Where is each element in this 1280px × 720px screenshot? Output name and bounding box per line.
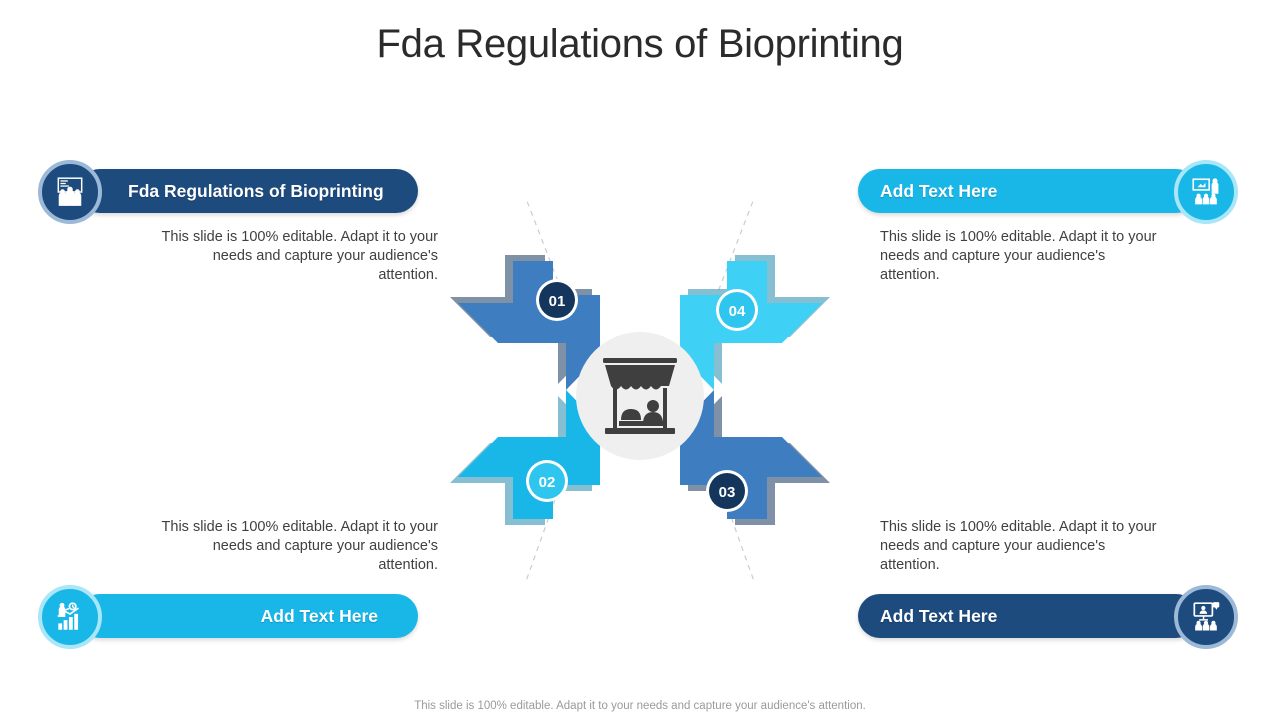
pill-row-bottom-right: Add Text Here (858, 585, 1278, 647)
icon-badge-bottom-left[interactable] (38, 585, 102, 649)
corner-block-bottom-right: This slide is 100% editable. Adapt it to… (858, 512, 1278, 647)
pill-label-top-right: Add Text Here (858, 181, 997, 202)
step-badge-03[interactable]: 03 (706, 470, 748, 512)
step-badge-04-label: 04 (729, 303, 746, 320)
arrow-step-01[interactable] (450, 255, 600, 390)
icon-badge-top-left[interactable] (38, 160, 102, 224)
step-badge-01-label: 01 (549, 293, 566, 310)
corner-block-bottom-left: This slide is 100% editable. Adapt it to… (38, 512, 458, 647)
step-badge-01[interactable]: 01 (536, 279, 578, 321)
icon-badge-top-right[interactable] (1174, 160, 1238, 224)
step-badge-04[interactable]: 04 (716, 289, 758, 331)
corner-description-bottom-left: This slide is 100% editable. Adapt it to… (38, 512, 458, 585)
arrow-step-04[interactable] (680, 255, 830, 390)
center-circle (576, 332, 704, 460)
label-pill-bottom-right[interactable]: Add Text Here (858, 594, 1198, 638)
people-presentation-icon (53, 175, 87, 209)
arrow-convergence-diagram: 01 04 02 03 (440, 200, 840, 580)
growth-chart-presenter-icon (53, 600, 87, 634)
corner-description-bottom-right: This slide is 100% editable. Adapt it to… (858, 512, 1278, 585)
pill-label-bottom-left: Add Text Here (78, 606, 418, 627)
presenter-audience-icon (1189, 175, 1223, 209)
pill-label-bottom-right: Add Text Here (858, 606, 997, 627)
label-pill-bottom-left[interactable]: Add Text Here (78, 594, 418, 638)
corner-description-top-left: This slide is 100% editable. Adapt it to… (38, 222, 458, 285)
step-badge-02-label: 02 (539, 474, 556, 491)
pill-label-top-left: Fda Regulations of Bioprinting (78, 181, 384, 202)
arrow-step-03[interactable] (680, 390, 830, 525)
corner-description-top-right: This slide is 100% editable. Adapt it to… (858, 222, 1278, 285)
label-pill-top-left[interactable]: Fda Regulations of Bioprinting (78, 169, 418, 213)
footer-note: This slide is 100% editable. Adapt it to… (0, 700, 1280, 712)
step-badge-02[interactable]: 02 (526, 460, 568, 502)
step-badge-03-label: 03 (719, 484, 736, 501)
page-title: Fda Regulations of Bioprinting (0, 22, 1280, 67)
pill-row-top-right: Add Text Here (858, 160, 1278, 222)
arrow-step-02[interactable] (450, 390, 600, 525)
icon-badge-bottom-right[interactable] (1174, 585, 1238, 649)
corner-block-top-right: Add Text Here This slide is 100% editab (858, 160, 1278, 285)
label-pill-top-right[interactable]: Add Text Here (858, 169, 1198, 213)
pill-row-top-left: Fda Regulations of Bioprinting (38, 160, 458, 222)
slide-canvas: Fda Regulations of Bioprinting Fda Regul… (0, 0, 1280, 720)
webinar-screen-audience-icon (1189, 600, 1223, 634)
corner-block-top-left: Fda Regulations of Bioprinting (38, 160, 458, 285)
pill-row-bottom-left: Add Text Here (38, 585, 458, 647)
